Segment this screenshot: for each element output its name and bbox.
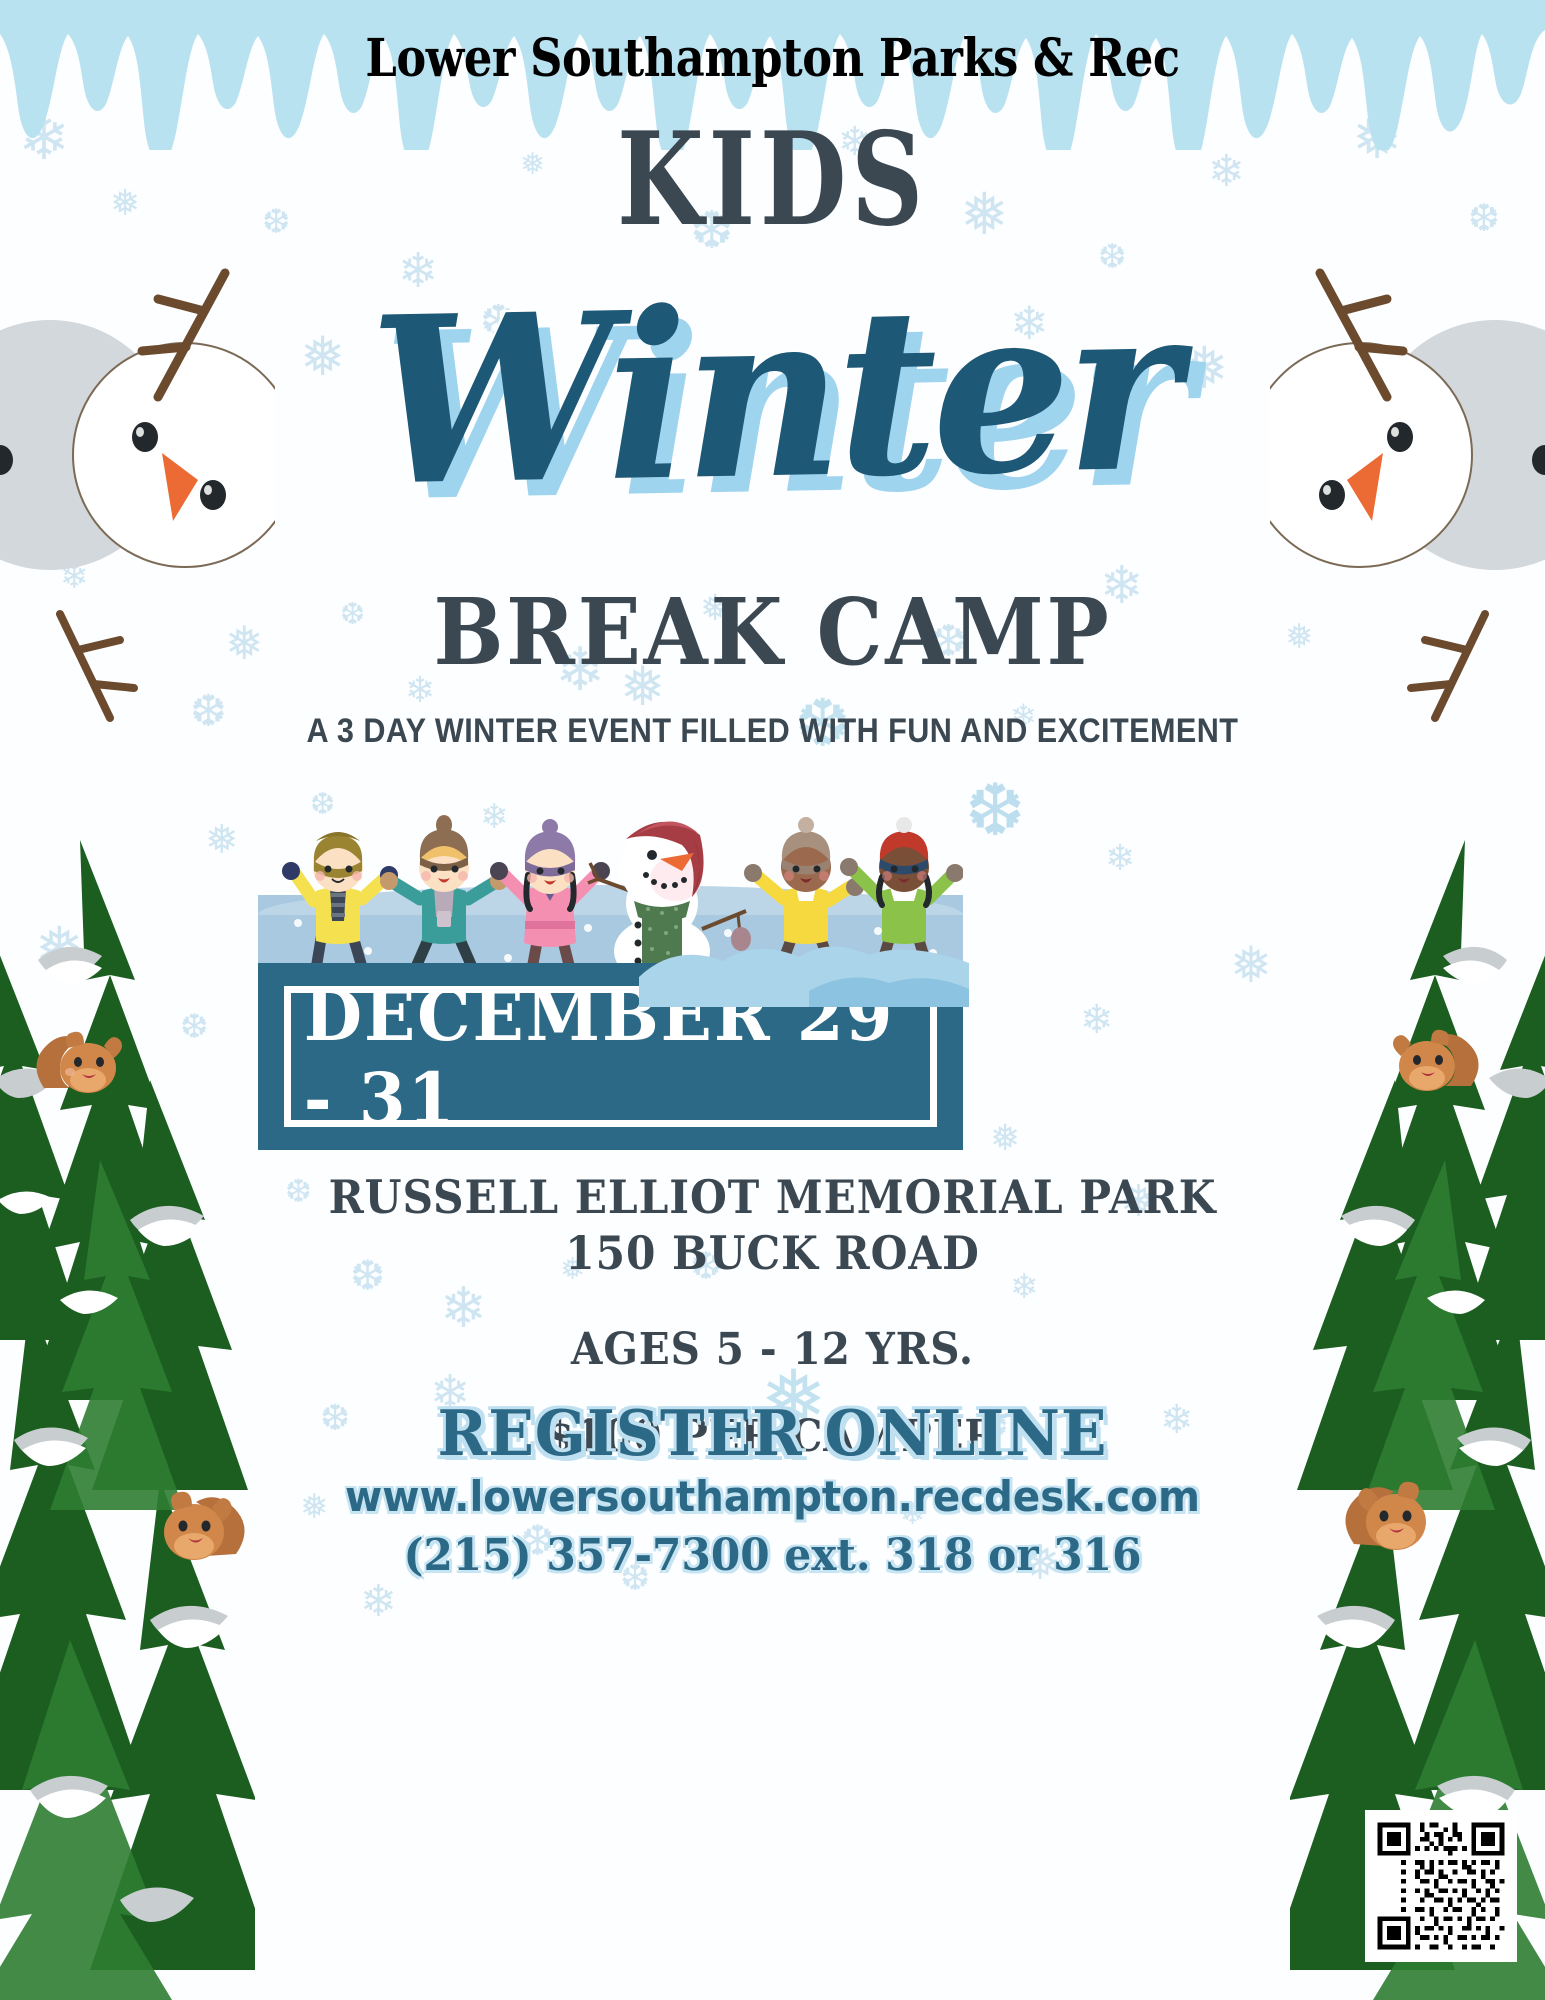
street-address: 150 BUCK ROAD: [62, 1226, 1483, 1280]
venue-name: RUSSELL ELLIOT MEMORIAL PARK: [62, 1170, 1483, 1224]
website-url[interactable]: www.lowersouthampton.recdesk.com: [31, 1472, 1514, 1521]
winter-title: Winter: [36, 247, 1508, 544]
squirrel-right-lower-icon: [1340, 1470, 1440, 1565]
date-banner-border: DECEMBER 29 - 31: [284, 986, 937, 1127]
winter-camp-flyer: ❄ ❅ ❆ ❄ ❅ ❆ ❄ ❅ ❆ ❄ ❅ ❆ ❄ ❅ ❆ ❄ ❅ ❆ ❄ ❅ …: [0, 0, 1545, 2000]
register-online-heading: REGISTER ONLINE: [39, 1396, 1507, 1470]
tagline: A 3 DAY WINTER EVENT FILLED WITH FUN AND…: [77, 712, 1468, 751]
qr-code[interactable]: [1365, 1810, 1517, 1962]
kid-teal-coat: [380, 815, 508, 979]
kids-title: KIDS: [170, 105, 1375, 255]
age-range: AGES 5 - 12 YRS.: [62, 1324, 1483, 1375]
kid-yellow-coat: [282, 832, 398, 979]
squirrel-left-upper-icon: [32, 1022, 127, 1107]
phone-number[interactable]: (215) 357-7300 ext. 318 or 316: [31, 1530, 1514, 1581]
date-banner: DECEMBER 29 - 31: [258, 963, 963, 1150]
org-title: Lower Southampton Parks & Rec: [108, 28, 1437, 89]
squirrel-left-lower-icon: [150, 1480, 250, 1575]
snow-drift-icon: [639, 937, 969, 1007]
break-camp-title: BREAK CAMP: [77, 578, 1468, 686]
squirrel-right-upper-icon: [1388, 1020, 1483, 1105]
